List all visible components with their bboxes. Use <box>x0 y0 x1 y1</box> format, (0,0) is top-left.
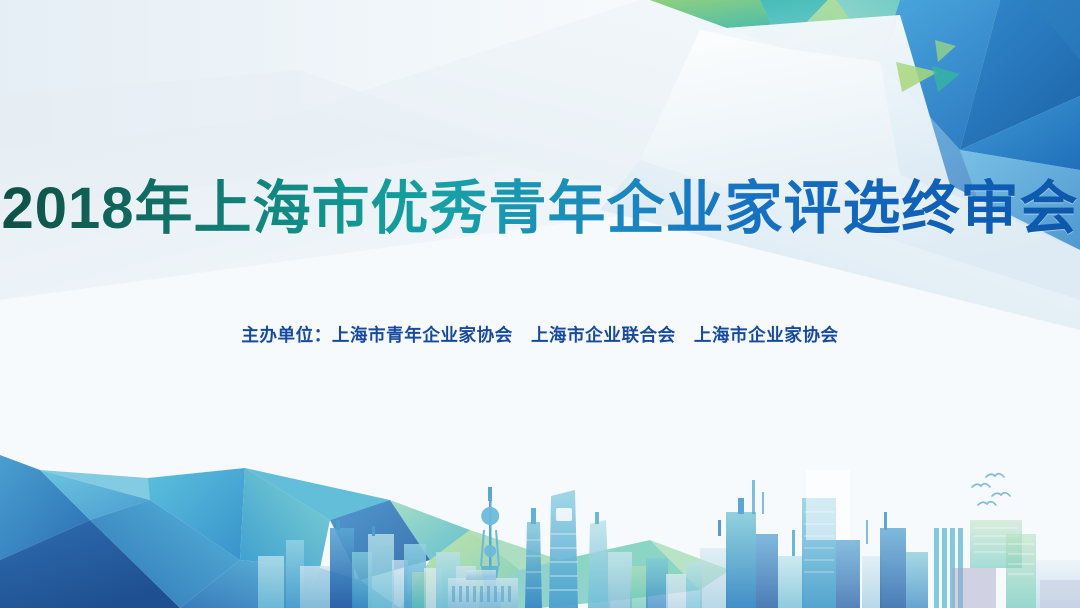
bird-icon <box>978 502 996 505</box>
organizers-line: 主办单位：上海市青年企业家协会 上海市企业联合会 上海市企业家协会 <box>241 322 838 347</box>
page-title: 2018年上海市优秀青年企业家评选终审会 <box>1 178 1078 241</box>
poster-canvas: 2018年上海市优秀青年企业家评选终审会 主办单位：上海市青年企业家协会 上海市… <box>0 0 1080 608</box>
bird-icon <box>992 493 1010 496</box>
title-block: 2018年上海市优秀青年企业家评选终审会 <box>0 178 1080 241</box>
bird-icon <box>986 474 1004 477</box>
bird-icon <box>972 484 990 487</box>
birds-decor <box>0 0 1080 608</box>
subtitle-block: 主办单位：上海市青年企业家协会 上海市企业联合会 上海市企业家协会 <box>0 322 1080 347</box>
